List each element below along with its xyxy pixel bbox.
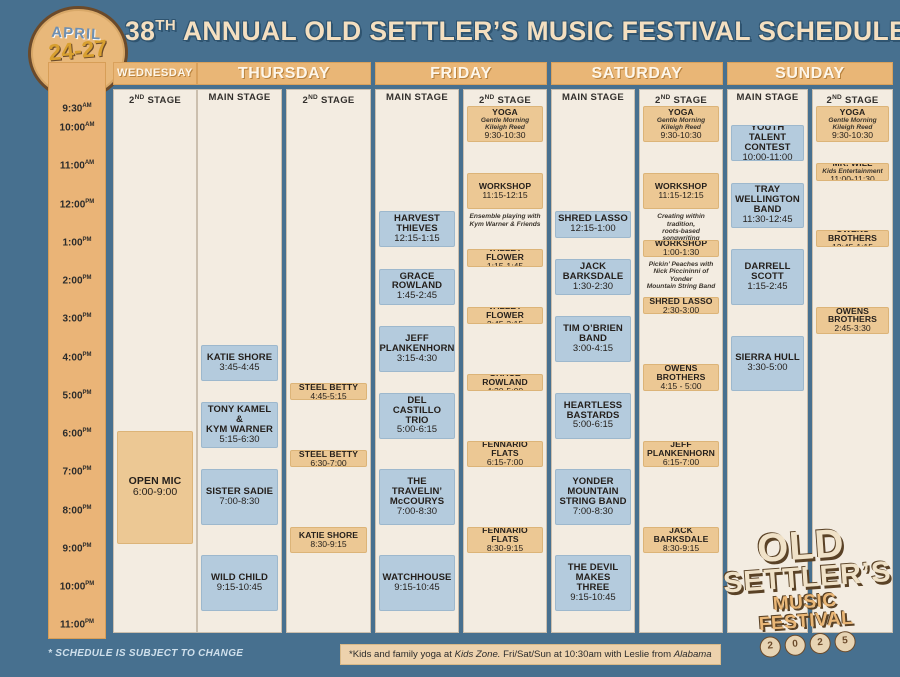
time-label: 4:00PM — [49, 352, 105, 363]
time-label-meridiem: PM — [85, 619, 94, 625]
kids-note-zone: Kids Zone. — [455, 649, 501, 660]
event-block[interactable]: SHRED LASSO2:30-3:00 — [643, 297, 719, 314]
event-name: YOGA — [668, 108, 694, 117]
event-time: 3:30-5:00 — [747, 363, 787, 373]
event-time: 9:15-10:45 — [570, 593, 615, 603]
event-block[interactable]: OWENS BROTHERS2:45-3:30 — [816, 307, 889, 334]
event-name: YOGA — [492, 108, 518, 117]
event-block[interactable]: OPEN MIC6:00-9:00 — [117, 431, 193, 544]
event-time: 8:30-9:15 — [487, 544, 523, 553]
event-block[interactable]: WORKSHOP1:00-1:30 — [643, 240, 719, 257]
stage-body: OPEN MIC6:00-9:00 — [114, 106, 196, 632]
stage-body: HARVESTTHIEVES12:15-1:15GRACEROWLAND1:45… — [376, 106, 458, 632]
stage-body: KATIE SHORE3:45-4:45TONY KAMEL &KYM WARN… — [198, 106, 281, 632]
event-block[interactable]: OWENS BROTHERS4:15 - 5:00 — [643, 364, 719, 391]
event-time: 9:30-10:30 — [660, 131, 701, 140]
stage-column-second: 2ND STAGEYOGAGentle MorningKileigh Reed9… — [463, 89, 547, 633]
event-block[interactable]: STEEL BETTY6:30-7:00 — [290, 450, 367, 467]
event-name: GRACEROWLAND — [392, 272, 442, 292]
event-time: 11:15-12:15 — [482, 191, 527, 200]
event-time: 7:00-8:30 — [573, 507, 613, 517]
event-name: HARVESTTHIEVES — [394, 214, 440, 234]
stage-body: STEEL BETTY4:45-5:15STEEL BETTY6:30-7:00… — [287, 106, 370, 632]
event-block[interactable]: JACK BARKSDALE1:30-2:30 — [555, 259, 631, 295]
logo-year-digit: 2 — [759, 636, 781, 658]
event-block[interactable]: KATIE SHORE8:30-9:15 — [290, 527, 367, 554]
time-label-text: 11:00 — [60, 161, 85, 172]
day-header: SATURDAY — [551, 62, 723, 85]
time-label-text: 5:00 — [62, 390, 82, 401]
event-time: 9:30-10:30 — [832, 131, 873, 140]
event-time: 7:00-8:30 — [397, 507, 437, 517]
time-label-text: 10:00 — [60, 582, 86, 593]
time-label-text: 1:00 — [62, 237, 82, 248]
event-block[interactable]: MR. WILLKids Entertainment11:00-11:30 — [816, 163, 889, 180]
event-time: 11:15-12:15 — [658, 191, 703, 200]
event-time: 12:45-1:15 — [832, 243, 873, 247]
time-label: 6:00PM — [49, 428, 105, 439]
time-label-text: 12:00 — [60, 199, 86, 210]
day-header: SUNDAY — [727, 62, 893, 85]
event-name: VALLEY FLOWER — [470, 307, 540, 320]
event-name: FENNARIO FLATS — [470, 441, 540, 459]
time-label: 11:00AM — [49, 160, 105, 171]
time-label-meridiem: PM — [85, 199, 94, 205]
event-time: 5:00-6:15 — [397, 425, 437, 435]
event-block[interactable]: YOGAGentle MorningKileigh Reed9:30-10:30 — [816, 106, 889, 142]
event-subtitle: Gentle MorningKileigh Reed — [657, 117, 705, 131]
stage-header: 2ND STAGE — [114, 90, 196, 106]
time-label-meridiem: AM — [85, 160, 94, 166]
time-label: 10:00PM — [49, 581, 105, 592]
badge-month: APRIL — [51, 23, 102, 43]
stage-header-ordinal: ND — [308, 94, 318, 101]
day-header: THURSDAY — [197, 62, 371, 85]
stage-header: MAIN STAGE — [376, 90, 458, 106]
event-block[interactable]: GRACE ROWLAND4:30-5:00 — [467, 374, 543, 391]
event-block[interactable]: WATCHHOUSE9:15-10:45 — [379, 555, 455, 610]
time-label-text: 8:00 — [62, 505, 82, 516]
stage-header-label: MAIN STAGE — [562, 92, 624, 103]
event-name: THE TRAVELIN’McCOURYS — [382, 477, 452, 507]
event-block[interactable]: VALLEY FLOWER2:45-3:15 — [467, 307, 543, 324]
stage-row: 2ND STAGEOPEN MIC6:00-9:00 — [113, 89, 197, 633]
kids-note-pre: *Kids and family yoga at — [349, 649, 455, 660]
stage-column-second: 2ND STAGESTEEL BETTY4:45-5:15STEEL BETTY… — [286, 89, 371, 633]
time-label-meridiem: PM — [83, 237, 92, 243]
event-block[interactable]: SIERRA HULL3:30-5:00 — [731, 336, 804, 391]
stage-header-label: MAIN STAGE — [737, 92, 799, 103]
stage-body: YOGAGentle MorningKileigh Reed9:30-10:30… — [464, 106, 546, 632]
event-time: 1:00-1:30 — [663, 248, 699, 257]
event-time: 3:45-4:45 — [219, 363, 259, 373]
event-time: 6:15-7:00 — [663, 458, 699, 467]
day-header: WEDNESDAY — [113, 62, 197, 85]
event-note: Ensemble playing withKym Warner & Friend… — [467, 213, 543, 228]
event-name: JEFFPLANKENHORN — [380, 334, 455, 354]
event-time: 4:30-5:00 — [487, 387, 523, 391]
event-time: 11:00-11:30 — [830, 175, 875, 180]
time-label-text: 3:00 — [62, 314, 82, 325]
stage-header: MAIN STAGE — [198, 90, 281, 106]
time-label-meridiem: PM — [83, 466, 92, 472]
stage-body: YOGAGentle MorningKileigh Reed9:30-10:30… — [640, 106, 722, 632]
time-label: 3:00PM — [49, 313, 105, 324]
event-name: FENNARIO FLATS — [470, 527, 540, 545]
time-label-text: 7:00 — [62, 467, 82, 478]
event-subtitle: Gentle MorningKileigh Reed — [481, 117, 529, 131]
stage-header-ordinal: ND — [661, 94, 671, 101]
stage-header-label: 2ND STAGE — [302, 95, 354, 106]
event-time: 3:15-4:30 — [397, 354, 437, 364]
time-label: 2:00PM — [49, 275, 105, 286]
stage-column-main: MAIN STAGESHRED LASSO12:15-1:00JACK BARK… — [551, 89, 635, 633]
event-time: 6:15-7:00 — [487, 458, 523, 467]
kids-yoga-note: *Kids and family yoga at Kids Zone. Fri/… — [340, 644, 721, 665]
event-block[interactable]: SISTER SADIE7:00-8:30 — [201, 469, 278, 524]
time-label-meridiem: AM — [85, 122, 94, 128]
event-time: 5:15-6:30 — [219, 435, 259, 445]
event-block[interactable]: WORKSHOP11:15-12:15 — [643, 173, 719, 209]
stage-header: MAIN STAGE — [552, 90, 634, 106]
event-block[interactable]: SHRED LASSO12:15-1:00 — [555, 211, 631, 238]
event-block[interactable]: TIM O’BRIENBAND3:00-4:15 — [555, 316, 631, 362]
time-axis: 9:30AM10:00AM11:00AM12:00PM1:00PM2:00PM3… — [48, 62, 106, 639]
stage-row: MAIN STAGEHARVESTTHIEVES12:15-1:15GRACER… — [375, 89, 547, 633]
event-block[interactable]: YOGAGentle MorningKileigh Reed9:30-10:30 — [467, 106, 543, 142]
time-label: 10:00AM — [49, 122, 105, 133]
event-time: 9:30-10:30 — [484, 131, 525, 140]
time-label-text: 2:00 — [62, 275, 82, 286]
event-block[interactable]: VALLEY FLOWER1:15-1:45 — [467, 249, 543, 266]
day-column-saturday: SATURDAYMAIN STAGESHRED LASSO12:15-1:00J… — [551, 62, 723, 633]
stage-header-label: 2ND STAGE — [655, 95, 707, 106]
event-block[interactable]: THE DEVILMAKES THREE9:15-10:45 — [555, 555, 631, 610]
stage-header-label: 2ND STAGE — [129, 95, 181, 106]
event-time: 9:15-10:45 — [217, 583, 262, 593]
day-column-friday: FRIDAYMAIN STAGEHARVESTTHIEVES12:15-1:15… — [375, 62, 547, 633]
event-time: 1:45-2:45 — [397, 291, 437, 301]
stage-row: MAIN STAGESHRED LASSO12:15-1:00JACK BARK… — [551, 89, 723, 633]
time-label-text: 9:30 — [62, 103, 82, 114]
event-block[interactable]: YOUTH TALENTCONTEST10:00-11:00 — [731, 125, 804, 161]
stage-header-ordinal: ND — [832, 94, 842, 101]
time-label: 11:00PM — [49, 619, 105, 630]
event-name: DARRELL SCOTT — [734, 262, 801, 282]
event-time: 10:00-11:00 — [742, 153, 792, 162]
event-block[interactable]: DEL CASTILLOTRIO5:00-6:15 — [379, 393, 455, 439]
kids-note-artist: Alabama — [674, 649, 712, 660]
day-header: FRIDAY — [375, 62, 547, 85]
title-number: 38 — [125, 16, 155, 46]
time-label-meridiem: PM — [83, 428, 92, 434]
event-subtitle: Gentle MorningKileigh Reed — [828, 117, 876, 131]
event-block[interactable]: FENNARIO FLATS8:30-9:15 — [467, 527, 543, 554]
time-label-meridiem: PM — [83, 275, 92, 281]
stage-header-ordinal: ND — [135, 94, 145, 101]
event-note: Pickin’ Peaches withNick Piccininni of Y… — [643, 261, 719, 291]
event-name: DEL CASTILLOTRIO — [382, 396, 452, 426]
event-time: 1:30-2:30 — [573, 282, 613, 292]
time-label-meridiem: AM — [82, 103, 91, 109]
event-time: 6:00-9:00 — [133, 487, 177, 499]
stage-body: SHRED LASSO12:15-1:00JACK BARKSDALE1:30-… — [552, 106, 634, 632]
stage-header-label: MAIN STAGE — [386, 92, 448, 103]
time-label: 9:00PM — [49, 543, 105, 554]
event-time: 9:15-10:45 — [394, 583, 439, 593]
time-label-text: 4:00 — [62, 352, 82, 363]
title-rest: ANNUAL OLD SETTLER’S MUSIC FESTIVAL SCHE… — [176, 16, 900, 46]
event-name: TIM O’BRIENBAND — [563, 324, 623, 344]
event-time: 1:15-1:45 — [487, 262, 523, 266]
kids-note-mid: Fri/Sat/Sun at 10:30am with Leslie from — [500, 649, 673, 660]
event-time: 2:45-3:15 — [487, 320, 523, 324]
day-column-wednesday: WEDNESDAY2ND STAGEOPEN MIC6:00-9:00 — [113, 62, 197, 633]
event-name: TONY KAMEL &KYM WARNER — [204, 405, 275, 435]
event-name: TRAY WELLINGTONBAND — [734, 185, 801, 215]
event-name: GRACE ROWLAND — [470, 374, 540, 387]
event-block[interactable]: JEFF PLANKENHORN6:15-7:00 — [643, 441, 719, 468]
stage-column-second: 2ND STAGEYOGAGentle MorningKileigh Reed9… — [639, 89, 723, 633]
event-name: JEFF PLANKENHORN — [646, 441, 716, 459]
event-name: YOUTH TALENTCONTEST — [734, 125, 801, 153]
stage-row: MAIN STAGEKATIE SHORE3:45-4:45TONY KAMEL… — [197, 89, 371, 633]
time-label-meridiem: PM — [83, 543, 92, 549]
event-block[interactable]: HEARTLESSBASTARDS5:00-6:15 — [555, 393, 631, 439]
title-ordinal: TH — [155, 17, 176, 34]
event-time: 6:30-7:00 — [310, 459, 346, 468]
stage-header-label: MAIN STAGE — [209, 92, 271, 103]
event-block[interactable]: OWENS BROTHERS12:45-1:15 — [816, 230, 889, 247]
event-block[interactable]: WORKSHOP11:15-12:15 — [467, 173, 543, 209]
time-label: 12:00PM — [49, 199, 105, 210]
logo-year-digit: 5 — [834, 631, 856, 653]
festival-logo: OLD SETTLER’S MUSIC FESTIVAL 2025 — [720, 523, 888, 661]
event-block[interactable]: HARVESTTHIEVES12:15-1:15 — [379, 211, 455, 247]
event-block[interactable]: THE TRAVELIN’McCOURYS7:00-8:30 — [379, 469, 455, 524]
stage-header-label: 2ND STAGE — [826, 95, 878, 106]
event-time: 4:15 - 5:00 — [660, 382, 701, 391]
event-name: JACK BARKSDALE — [646, 527, 716, 545]
event-block[interactable]: WILD CHILD9:15-10:45 — [201, 555, 278, 610]
event-name: JACK BARKSDALE — [558, 262, 628, 282]
event-block[interactable]: YONDERMOUNTAINSTRING BAND7:00-8:30 — [555, 469, 631, 524]
time-label-meridiem: PM — [83, 390, 92, 396]
event-time: 1:15-2:45 — [747, 282, 787, 292]
schedule-disclaimer: * SCHEDULE IS SUBJECT TO CHANGE — [48, 648, 243, 659]
event-block[interactable]: GRACEROWLAND1:45-2:45 — [379, 269, 455, 305]
logo-year-digit: 2 — [809, 632, 831, 654]
stage-header-label: 2ND STAGE — [479, 95, 531, 106]
stage-column-main: MAIN STAGEKATIE SHORE3:45-4:45TONY KAMEL… — [197, 89, 282, 633]
stage-header: 2ND STAGE — [640, 90, 722, 106]
event-block[interactable]: FENNARIO FLATS6:15-7:00 — [467, 441, 543, 468]
stage-column-main: MAIN STAGEHARVESTTHIEVES12:15-1:15GRACER… — [375, 89, 459, 633]
event-time: 8:30-9:15 — [310, 540, 346, 549]
stage-header: MAIN STAGE — [728, 90, 807, 106]
event-time: 8:30-9:15 — [663, 544, 699, 553]
event-name: THE DEVILMAKES THREE — [558, 563, 628, 593]
stage-column-second: 2ND STAGEOPEN MIC6:00-9:00 — [113, 89, 197, 633]
time-label-text: 9:00 — [62, 543, 82, 554]
event-block[interactable]: DARRELL SCOTT1:15-2:45 — [731, 249, 804, 304]
time-label-text: 10:00 — [60, 122, 86, 133]
event-time: 12:15-1:15 — [394, 234, 439, 244]
event-time: 11:30-12:45 — [742, 215, 792, 225]
event-time: 12:15-1:00 — [570, 224, 615, 234]
event-block[interactable]: KATIE SHORE3:45-4:45 — [201, 345, 278, 381]
event-name: HEARTLESSBASTARDS — [564, 401, 622, 421]
time-label-text: 6:00 — [62, 428, 82, 439]
day-column-thursday: THURSDAYMAIN STAGEKATIE SHORE3:45-4:45TO… — [197, 62, 371, 633]
stage-header: 2ND STAGE — [813, 90, 892, 106]
logo-year-digit: 0 — [784, 634, 806, 656]
time-label: 5:00PM — [49, 390, 105, 401]
event-block[interactable]: JEFFPLANKENHORN3:15-4:30 — [379, 326, 455, 372]
time-label-meridiem: PM — [83, 352, 92, 358]
time-label: 8:00PM — [49, 505, 105, 516]
time-label: 1:00PM — [49, 237, 105, 248]
event-name: OWENS BROTHERS — [819, 307, 886, 325]
stage-header-ordinal: ND — [485, 94, 495, 101]
event-time: 3:00-4:15 — [573, 344, 613, 354]
event-name: YOGA — [840, 108, 866, 117]
time-label-meridiem: PM — [83, 313, 92, 319]
event-block[interactable]: STEEL BETTY4:45-5:15 — [290, 383, 367, 400]
stage-header: 2ND STAGE — [464, 90, 546, 106]
time-label: 9:30AM — [49, 103, 105, 114]
event-block[interactable]: TRAY WELLINGTONBAND11:30-12:45 — [731, 183, 804, 229]
event-time: 5:00-6:15 — [573, 420, 613, 430]
time-label-meridiem: PM — [85, 581, 94, 587]
event-time: 2:45-3:30 — [834, 324, 870, 333]
page-title: 38TH ANNUAL OLD SETTLER’S MUSIC FESTIVAL… — [125, 16, 890, 47]
time-label-meridiem: PM — [83, 505, 92, 511]
event-time: 7:00-8:30 — [219, 497, 259, 507]
event-time: 2:30-3:00 — [663, 306, 699, 315]
event-name: OWENS BROTHERS — [646, 364, 716, 382]
event-time: 4:45-5:15 — [310, 392, 346, 401]
time-label-text: 11:00 — [60, 620, 85, 631]
time-label: 7:00PM — [49, 466, 105, 477]
event-block[interactable]: TONY KAMEL &KYM WARNER5:15-6:30 — [201, 402, 278, 448]
event-block[interactable]: YOGAGentle MorningKileigh Reed9:30-10:30 — [643, 106, 719, 142]
event-block[interactable]: JACK BARKSDALE8:30-9:15 — [643, 527, 719, 554]
event-name: YONDERMOUNTAINSTRING BAND — [559, 477, 626, 507]
stage-header: 2ND STAGE — [287, 90, 370, 106]
